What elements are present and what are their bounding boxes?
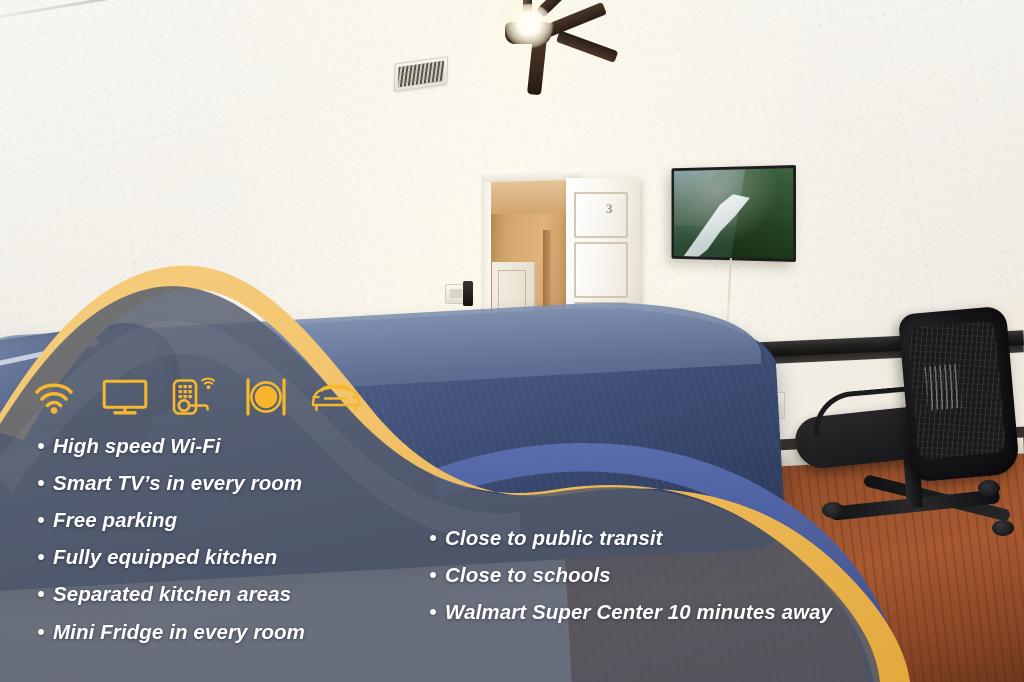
list-item: Smart TV’s in every room — [38, 469, 408, 498]
list-item: Close to schools — [430, 561, 930, 590]
list-item: Fully equipped kitchen — [38, 543, 408, 572]
bullet-icon — [430, 609, 436, 615]
feature-label: Close to public transit — [445, 524, 663, 553]
feature-label: Smart TV’s in every room — [53, 469, 302, 498]
feature-list-right: Close to public transit Close to schools… — [430, 524, 930, 635]
bullet-icon — [38, 629, 44, 635]
list-item: Mini Fridge in every room — [38, 618, 408, 647]
wifi-icon — [30, 376, 78, 418]
feature-label: High speed Wi-Fi — [53, 432, 221, 461]
feature-label: Walmart Super Center 10 minutes away — [445, 598, 832, 627]
list-item: Walmart Super Center 10 minutes away — [430, 598, 930, 627]
list-item: Free parking — [38, 506, 408, 535]
bullet-icon — [430, 535, 436, 541]
smart-lock-icon — [171, 376, 219, 418]
list-item: Separated kitchen areas — [38, 580, 408, 609]
list-item: High speed Wi-Fi — [38, 432, 408, 461]
bullet-icon — [38, 480, 44, 486]
marketing-image: 3 — [0, 0, 1024, 682]
feature-label: Separated kitchen areas — [53, 580, 291, 609]
list-item: Close to public transit — [430, 524, 930, 553]
bullet-icon — [38, 591, 44, 597]
bullet-icon — [430, 572, 436, 578]
feature-label: Close to schools — [445, 561, 611, 590]
bullet-icon — [38, 517, 44, 523]
feature-list-left: High speed Wi-Fi Smart TV’s in every roo… — [38, 432, 408, 655]
feature-label: Fully equipped kitchen — [53, 543, 277, 572]
feature-label: Mini Fridge in every room — [53, 618, 305, 647]
bullet-icon — [38, 443, 44, 449]
car-icon — [312, 376, 360, 418]
bullet-icon — [38, 554, 44, 560]
dining-plate-icon — [242, 376, 290, 418]
tv-icon — [101, 376, 149, 418]
amenity-icon-row — [30, 374, 360, 420]
feature-label: Free parking — [53, 506, 177, 535]
